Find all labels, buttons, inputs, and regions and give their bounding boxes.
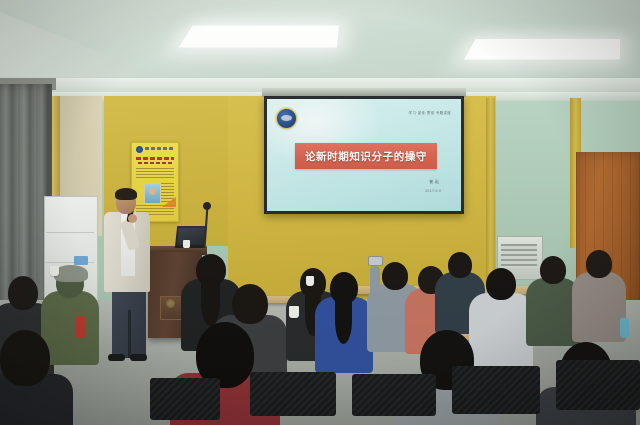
- slide-presenter-name: 崔 岩: [429, 179, 439, 185]
- cabinet-seam-1: [46, 232, 94, 233]
- speaker-shoe-right: [130, 354, 147, 361]
- lecture-hall-photo: 学习·宣传·贯彻 专题讲座 论新时期知识分子的操守 崔 岩 2017.5.9 ·…: [0, 0, 640, 425]
- smartphone-icon: [368, 256, 383, 266]
- audience-member-head: [382, 262, 408, 290]
- paper-cup-on-lectern: [183, 240, 190, 248]
- slide-date-text: 2017.5.9: [425, 189, 441, 193]
- audience-member-head: [330, 272, 358, 304]
- poster-body-text: [136, 168, 174, 178]
- audience-member-head: [448, 252, 472, 278]
- presentation-slide: 学习·宣传·贯彻 专题讲座 论新时期知识分子的操守 崔 岩 2017.5.9 ·…: [267, 99, 461, 211]
- audience-member-head: [196, 254, 226, 286]
- audience-member-head: [8, 276, 38, 310]
- institute-logo-icon: [136, 146, 143, 153]
- laptop-on-lectern: [175, 226, 207, 248]
- speaker-hand: [128, 214, 137, 223]
- poster-logo-text: [145, 147, 173, 150]
- lectern-emblem-icon: [166, 299, 175, 308]
- water-bottle: [76, 316, 85, 338]
- speaker-shoe-left: [108, 354, 125, 361]
- water-bottle: [620, 318, 629, 338]
- audience-member-cap: [54, 265, 88, 282]
- paper-cup: [50, 266, 59, 276]
- gooseneck-microphone-icon: [203, 202, 211, 210]
- laptop-screen: [177, 228, 205, 245]
- paper-cup: [306, 276, 314, 286]
- cabinet-label: [74, 256, 88, 265]
- poster-portrait-photo: [144, 183, 161, 204]
- ceiling-light-panel-1: [179, 25, 339, 47]
- audience-member-raised-arm: [370, 266, 380, 300]
- audience-member-head: [540, 256, 566, 284]
- audience-member-head: [0, 330, 50, 386]
- university-crest-icon: [276, 108, 297, 129]
- speaker-leg-gap: [128, 310, 131, 358]
- chair-back: [452, 366, 540, 414]
- chair-back: [250, 372, 336, 416]
- speaker-hair: [115, 188, 137, 200]
- slide-title-band: 论新时期知识分子的操守: [295, 143, 437, 169]
- projection-screen: 学习·宣传·贯彻 专题讲座 论新时期知识分子的操守 崔 岩 2017.5.9 ·…: [264, 96, 464, 214]
- audience-member-head: [486, 268, 516, 300]
- audience-member-torso: [469, 293, 533, 373]
- slide-footer-text: · · · · · ·: [359, 204, 370, 208]
- chair-back: [556, 360, 640, 410]
- poster-accent-shape: [162, 197, 176, 207]
- poster-subheading-text: [138, 162, 172, 164]
- paper-cup: [289, 306, 299, 318]
- slide-header-text: 学习·宣传·贯彻 专题讲座: [409, 110, 451, 115]
- audience-member-head: [586, 250, 612, 278]
- audience-member-head: [232, 284, 268, 324]
- chair-back: [352, 374, 436, 416]
- chair-back: [150, 378, 220, 420]
- ceiling-light-panel-2: [464, 39, 620, 60]
- slide-title-text: 论新时期知识分子的操守: [305, 149, 427, 164]
- poster-heading-text: [136, 157, 174, 160]
- vent-slats: [501, 244, 537, 268]
- audience-member-torso: [572, 272, 626, 342]
- event-poster: [131, 142, 179, 222]
